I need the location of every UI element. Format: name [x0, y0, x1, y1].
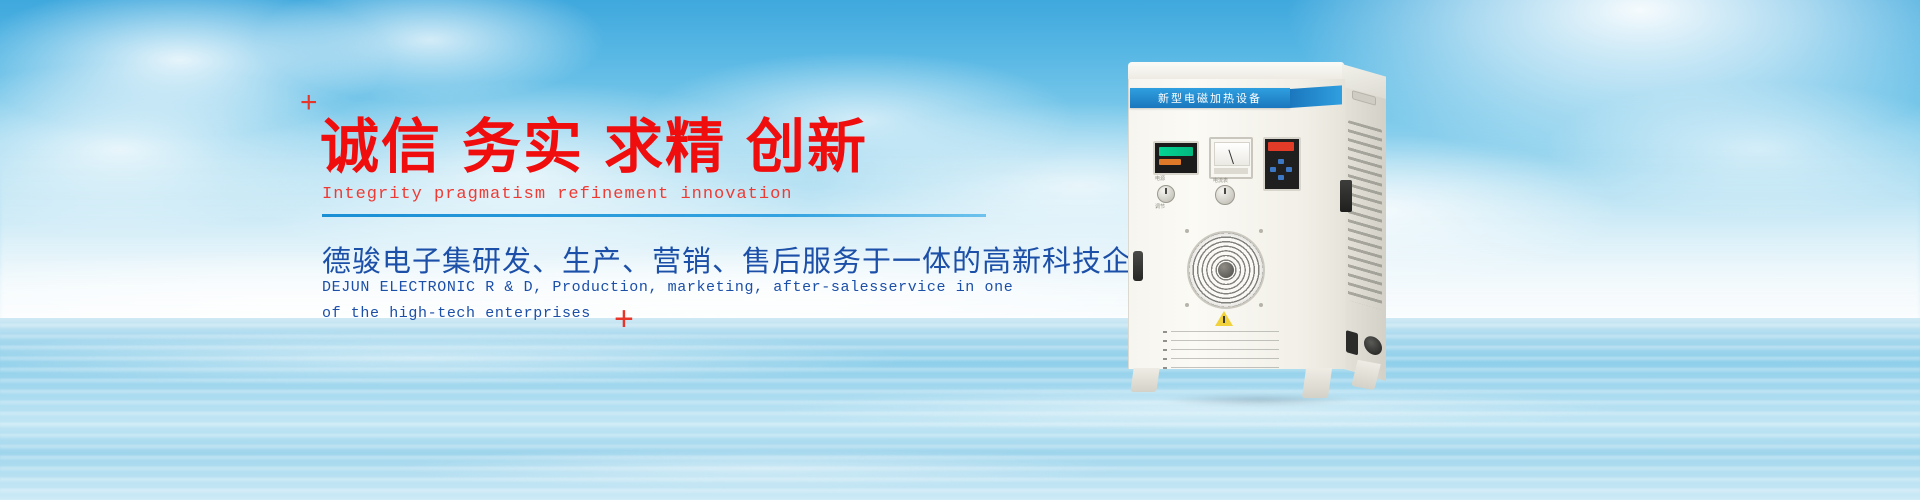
- controller-primary-readout: [1159, 147, 1193, 156]
- cabinet-vent-louvers: [1348, 120, 1382, 310]
- product-nameplate-edge: [1290, 85, 1342, 108]
- ammeter-label-strip: [1214, 168, 1248, 174]
- keypad-button-down: [1278, 175, 1284, 180]
- cabinet-foot: [1130, 368, 1159, 392]
- banner-copy-block: + + 诚信务实求精创新 Integrity pragmatism refine…: [0, 0, 1200, 500]
- product-nameplate: 新型电磁加热设备: [1130, 88, 1290, 108]
- tagline-chinese: 德骏电子集研发、生产、营销、售后服务于一体的高新科技企业: [322, 238, 1162, 280]
- tagline-english-line-2: of the high-tech enterprises: [322, 301, 1013, 327]
- control-keypad: [1263, 137, 1301, 191]
- corner-door-latch: [1340, 180, 1352, 212]
- product-nameplate-label: 新型电磁加热设备: [1158, 90, 1262, 106]
- cooling-fan-grille: [1187, 231, 1265, 309]
- rear-connector-port: [1346, 330, 1358, 355]
- fan-screw: [1185, 303, 1189, 307]
- headline-slogan: 诚信务实求精创新: [320, 118, 868, 177]
- controller-secondary-readout: [1159, 159, 1181, 165]
- analog-ammeter: [1209, 137, 1253, 179]
- keypad-button-right: [1286, 167, 1292, 172]
- fan-screw: [1259, 229, 1263, 233]
- power-selector-knob: [1157, 185, 1175, 203]
- warning-triangle-icon: [1215, 311, 1233, 326]
- knob-caption-left: 调节: [1155, 203, 1165, 210]
- spec-label-text-lines: [1171, 331, 1279, 371]
- keypad-button-up: [1278, 159, 1284, 164]
- promo-banner: + + 诚信务实求精创新 Integrity pragmatism refine…: [0, 0, 1920, 500]
- fan-screw: [1259, 303, 1263, 307]
- divider-rule: [322, 214, 986, 217]
- plus-decoration-icon: +: [300, 88, 318, 118]
- keypad-display: [1268, 142, 1294, 151]
- product-heating-equipment: 电源 电流表 调节 新型电磁加热设备: [1118, 62, 1418, 442]
- fan-hub: [1218, 262, 1234, 278]
- headline-word-4: 创新: [746, 114, 868, 180]
- keypad-button-left: [1270, 167, 1276, 172]
- adjustment-knob: [1215, 185, 1235, 205]
- meter-caption-left: 电源: [1155, 175, 1165, 182]
- tagline-english-block: DEJUN ELECTRONIC R & D, Production, mark…: [322, 275, 1013, 327]
- spec-bullet-dots: [1163, 331, 1167, 371]
- headline-english-subtitle: Integrity pragmatism refinement innovati…: [322, 185, 792, 204]
- cabinet-foot: [1351, 360, 1380, 390]
- product-shadow: [1124, 392, 1394, 408]
- fan-screw: [1185, 229, 1189, 233]
- headline-word-1: 诚信: [320, 114, 442, 180]
- tagline-english-line-1: DEJUN ELECTRONIC R & D, Production, mark…: [322, 275, 1013, 301]
- cabinet-top-face: [1128, 62, 1344, 80]
- headline-word-3: 求精: [604, 114, 726, 180]
- ammeter-dial: [1214, 142, 1250, 166]
- front-left-latch: [1133, 251, 1143, 281]
- meter-caption-right: 电流表: [1213, 177, 1228, 184]
- digital-temperature-controller: [1153, 141, 1199, 175]
- cabinet-foot: [1302, 368, 1332, 398]
- ammeter-needle: [1228, 150, 1234, 165]
- headline-word-2: 务实: [462, 114, 584, 180]
- cabinet-front-panel: 电源 电流表 调节: [1128, 79, 1345, 369]
